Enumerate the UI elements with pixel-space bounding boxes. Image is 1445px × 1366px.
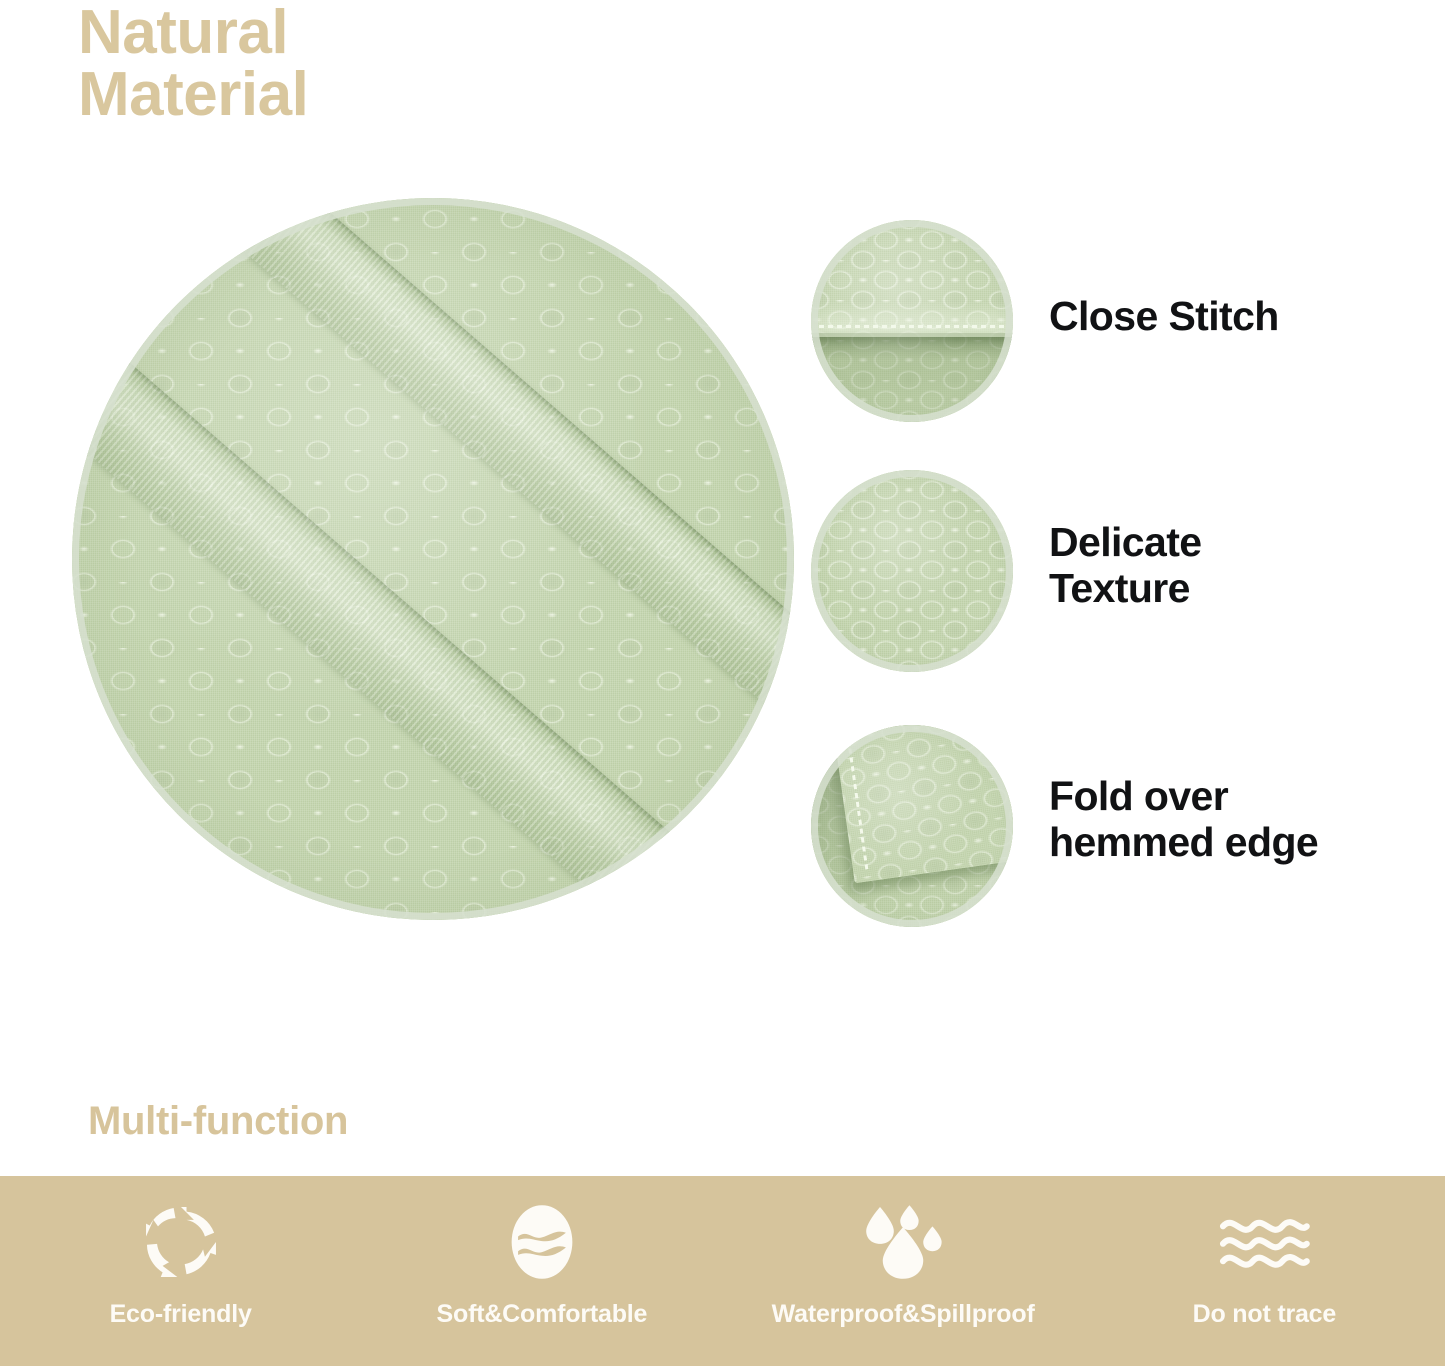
feature-label-soft-comfortable: Soft&Comfortable	[437, 1300, 648, 1329]
section-title-multi-function: Multi-function	[88, 1099, 348, 1144]
detail2-shading	[811, 470, 1013, 672]
detail-label-close-stitch: Close Stitch	[1049, 293, 1279, 339]
detail1-shading	[811, 220, 1013, 422]
detail-label-delicate-texture: Delicate Texture	[1049, 519, 1201, 612]
hero-shading	[72, 198, 794, 920]
feature-label-eco-friendly: Eco-friendly	[110, 1300, 252, 1329]
feature-label-do-not-trace: Do not trace	[1193, 1300, 1336, 1329]
feature-eco-friendly: Eco-friendly	[0, 1176, 361, 1366]
infographic-page: Natural Material Close Stitch Delicate T…	[0, 0, 1445, 1366]
wavy-lines-icon	[1212, 1190, 1316, 1294]
recycle-arrows-icon	[129, 1190, 233, 1294]
feature-do-not-trace: Do not trace	[1084, 1176, 1445, 1366]
water-droplets-icon	[851, 1190, 955, 1294]
detail3-shading	[811, 725, 1013, 927]
detail1-stitch-line	[819, 325, 1005, 328]
feature-label-waterproof-spillproof: Waterproof&Spillproof	[772, 1300, 1035, 1329]
hero-fabric-swatch	[72, 198, 794, 920]
detail-swatch-delicate-texture	[811, 470, 1013, 672]
feature-soft-comfortable: Soft&Comfortable	[361, 1176, 722, 1366]
soft-waves-circle-icon	[490, 1190, 594, 1294]
detail-swatch-hemmed-edge	[811, 725, 1013, 927]
page-title-natural-material: Natural Material	[78, 2, 308, 126]
detail-label-hemmed-edge: Fold over hemmed edge	[1049, 773, 1318, 866]
detail-swatch-close-stitch	[811, 220, 1013, 422]
feature-waterproof-spillproof: Waterproof&Spillproof	[723, 1176, 1084, 1366]
feature-band: Eco-friendly Soft&Comfortab	[0, 1176, 1445, 1366]
